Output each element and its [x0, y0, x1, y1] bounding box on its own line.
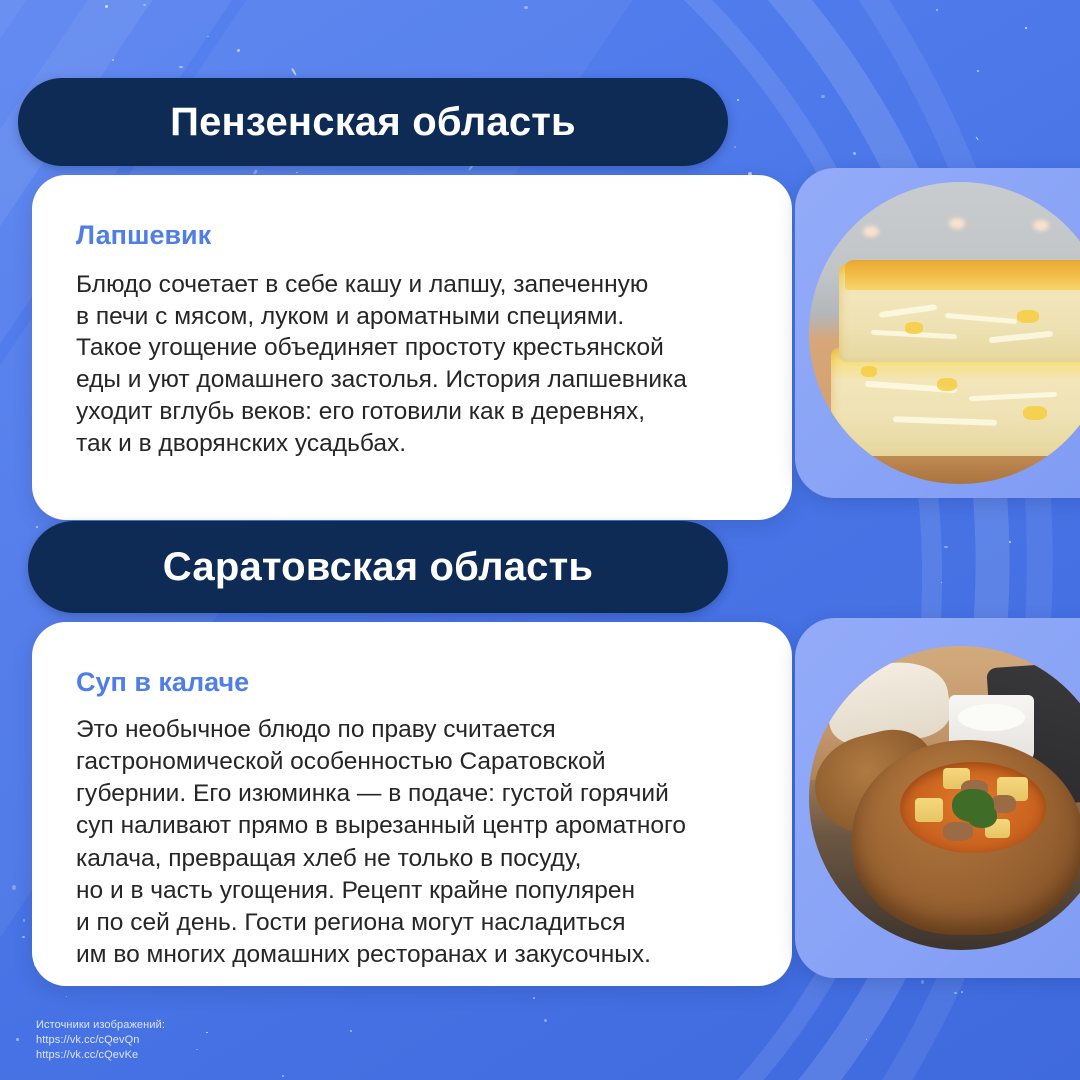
background-speck [206, 1032, 208, 1033]
background-speck [207, 36, 209, 37]
background-speck [853, 152, 856, 155]
background-speck [112, 59, 114, 61]
background-speck [1009, 541, 1011, 543]
food-illustration-bread-bowl-soup [809, 646, 1080, 950]
background-speck [143, 4, 146, 6]
background-speck [533, 997, 535, 999]
dish-photo-panel-sup-v-kalache [795, 618, 1080, 978]
background-speck [16, 1038, 19, 1041]
background-speck [196, 1049, 198, 1050]
background-speck [12, 885, 16, 890]
background-speck [1025, 27, 1027, 29]
dish-photo-sup-v-kalache [809, 646, 1080, 950]
dish-description: Блюдо сочетает в себе кашу и лапшу, запе… [76, 269, 748, 460]
background-speck [977, 70, 979, 72]
food-illustration-casserole [809, 182, 1080, 484]
background-speck [941, 582, 942, 583]
dish-card-sup-v-kalache: Суп в калаче Это необычное блюдо по прав… [32, 622, 792, 986]
background-speck [36, 526, 38, 528]
background-speck [544, 1019, 547, 1022]
dish-card-lapshevik: Лапшевик Блюдо сочетает в себе кашу и ла… [32, 175, 792, 520]
background-speck [22, 936, 25, 938]
region-banner-penza: Пензенская область [18, 78, 728, 166]
dish-title: Лапшевик [76, 221, 748, 251]
image-source-link-2[interactable]: https://vk.cc/cQevKe [36, 1048, 165, 1063]
background-speck [961, 991, 963, 993]
region-banner-title: Саратовская область [163, 547, 593, 587]
background-speck [936, 9, 938, 11]
dish-description: Это необычное блюдо по праву считается г… [76, 714, 748, 972]
image-sources-label: Источники изображений: [36, 1018, 165, 1033]
image-source-link-1[interactable]: https://vk.cc/cQevQn [36, 1033, 165, 1048]
dish-photo-panel-lapshevik [795, 168, 1080, 498]
background-speck [296, 172, 298, 173]
poster-canvas: Пензенская область Лапшевик Блюдо сочета… [0, 0, 1080, 1080]
background-speck [944, 546, 948, 548]
background-speck [350, 1030, 352, 1032]
background-speck [105, 5, 108, 8]
background-speck [921, 980, 924, 984]
region-banner-title: Пензенская область [170, 102, 576, 142]
background-speck [821, 95, 825, 98]
image-sources: Источники изображений: https://vk.cc/cQe… [36, 1018, 165, 1064]
background-speck [737, 99, 739, 101]
background-speck [291, 68, 297, 76]
background-speck [524, 6, 528, 9]
background-speck [282, 1075, 284, 1077]
dish-photo-lapshevik [809, 182, 1080, 484]
background-speck [866, 1039, 867, 1040]
dish-title: Суп в калаче [76, 668, 748, 698]
background-speck [734, 146, 736, 148]
background-speck [954, 992, 957, 994]
background-speck [179, 66, 183, 68]
background-speck [23, 919, 25, 922]
background-speck [237, 49, 240, 52]
background-speck [66, 996, 67, 997]
background-speck [975, 137, 978, 141]
region-banner-saratov: Саратовская область [28, 521, 728, 613]
